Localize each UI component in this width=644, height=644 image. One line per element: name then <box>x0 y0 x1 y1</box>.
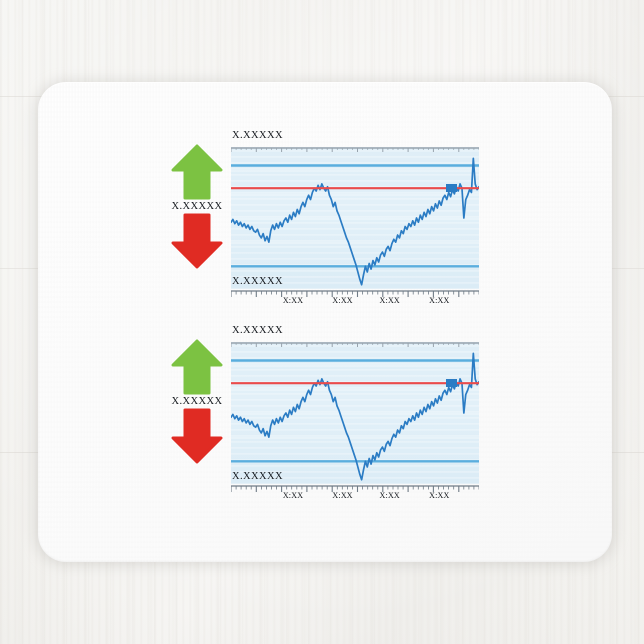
down-arrow-icon <box>171 408 223 464</box>
last-price-marker <box>446 379 457 387</box>
x-tick-label: X:XX <box>332 491 352 500</box>
x-tick-label: X:XX <box>283 491 303 500</box>
chart-bottom: X.XXXXX <box>228 325 478 505</box>
plot-top-border <box>231 148 479 152</box>
indicator-value-bottom: X.XXXXX <box>172 396 223 407</box>
ticker-panel-top: X.XXXXX X.XXXXX <box>166 130 478 310</box>
chart-plot-area-top <box>231 147 479 289</box>
indicator-arrows-top: X.XXXXX <box>166 144 228 296</box>
indicator-arrows-bottom: X.XXXXX <box>166 339 228 491</box>
chart-x-tick-labels-bottom: X:XX X:XX X:XX X:XX <box>231 491 479 505</box>
chart-svg-bottom <box>231 342 479 484</box>
chart-bottom-value-label: X.XXXXX <box>232 276 283 287</box>
up-arrow-icon <box>171 144 223 200</box>
chart-top-value-label: X.XXXXX <box>232 325 283 336</box>
ticker-panel-bottom: X.XXXXX X.XXXXX <box>166 325 478 505</box>
screenshot-stage: X.XXXXX X.XXXXX <box>0 0 644 644</box>
indicator-value-top: X.XXXXX <box>172 201 223 212</box>
plot-top-border <box>231 343 479 347</box>
x-tick-label: X:XX <box>332 296 352 305</box>
chart-svg-top <box>231 147 479 289</box>
x-tick-label: X:XX <box>380 491 400 500</box>
chart-plot-area-bottom <box>231 342 479 484</box>
chart-faint-gridlines <box>231 171 479 267</box>
up-arrow-icon <box>171 339 223 395</box>
x-tick-label: X:XX <box>429 296 449 305</box>
x-tick-label: X:XX <box>283 296 303 305</box>
last-price-marker <box>446 184 457 192</box>
chart-bottom-value-label: X.XXXXX <box>232 471 283 482</box>
chart-top-value-label: X.XXXXX <box>232 130 283 141</box>
x-tick-label: X:XX <box>429 491 449 500</box>
chart-top: X.XXXXX <box>228 130 478 310</box>
chart-x-tick-labels-top: X:XX X:XX X:XX X:XX <box>231 296 479 310</box>
chart-faint-gridlines <box>231 366 479 462</box>
x-tick-label: X:XX <box>380 296 400 305</box>
down-arrow-icon <box>171 213 223 269</box>
